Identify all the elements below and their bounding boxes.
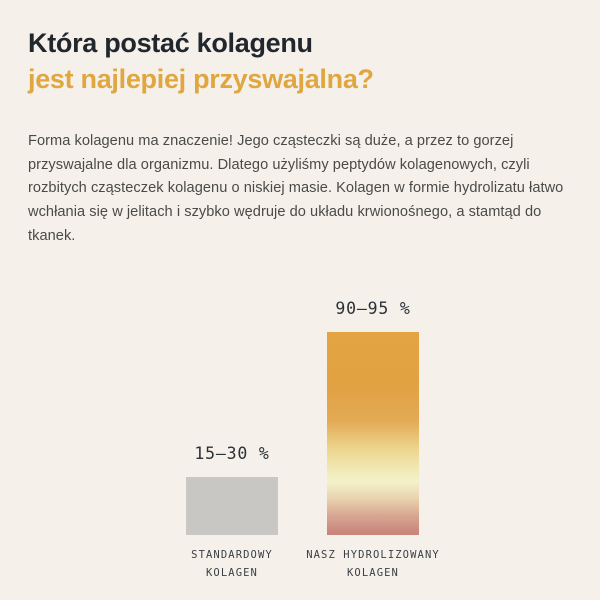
body-text: Forma kolagenu ma znaczenie! Jego cząste… bbox=[28, 130, 568, 248]
bar-hydrolyzed-collagen bbox=[327, 332, 419, 535]
page-title-line-2-accent: jest najlepiej przyswajalna? bbox=[28, 62, 573, 98]
bar-caption-hydrolyzed-line-2: KOLAGEN bbox=[278, 564, 468, 582]
bar-value-label-standard: 15–30 % bbox=[194, 444, 269, 463]
page-title-line-1: Która postać kolagenu bbox=[28, 26, 573, 62]
bar-value-label-hydrolyzed: 90–95 % bbox=[335, 299, 410, 318]
bar-group-hydrolyzed-collagen: 90–95 % bbox=[327, 250, 419, 535]
page-title: Która postać kolagenu jest najlepiej prz… bbox=[28, 26, 573, 98]
bar-standard-collagen bbox=[186, 477, 278, 535]
bar-caption-hydrolyzed-line-1: NASZ HYDROLIZOWANY bbox=[278, 546, 468, 564]
bar-group-standard-collagen: 15–30 % bbox=[186, 250, 278, 535]
infographic-page: Która postać kolagenu jest najlepiej prz… bbox=[0, 0, 600, 600]
bar-caption-hydrolyzed-collagen: NASZ HYDROLIZOWANY KOLAGEN bbox=[278, 546, 468, 582]
bar-chart: 15–30 % 90–95 % STANDARDOWY KOLAGEN NASZ… bbox=[0, 250, 600, 590]
body-paragraph: Forma kolagenu ma znaczenie! Jego cząste… bbox=[28, 130, 568, 248]
chart-plot-area: 15–30 % 90–95 % bbox=[0, 250, 600, 535]
